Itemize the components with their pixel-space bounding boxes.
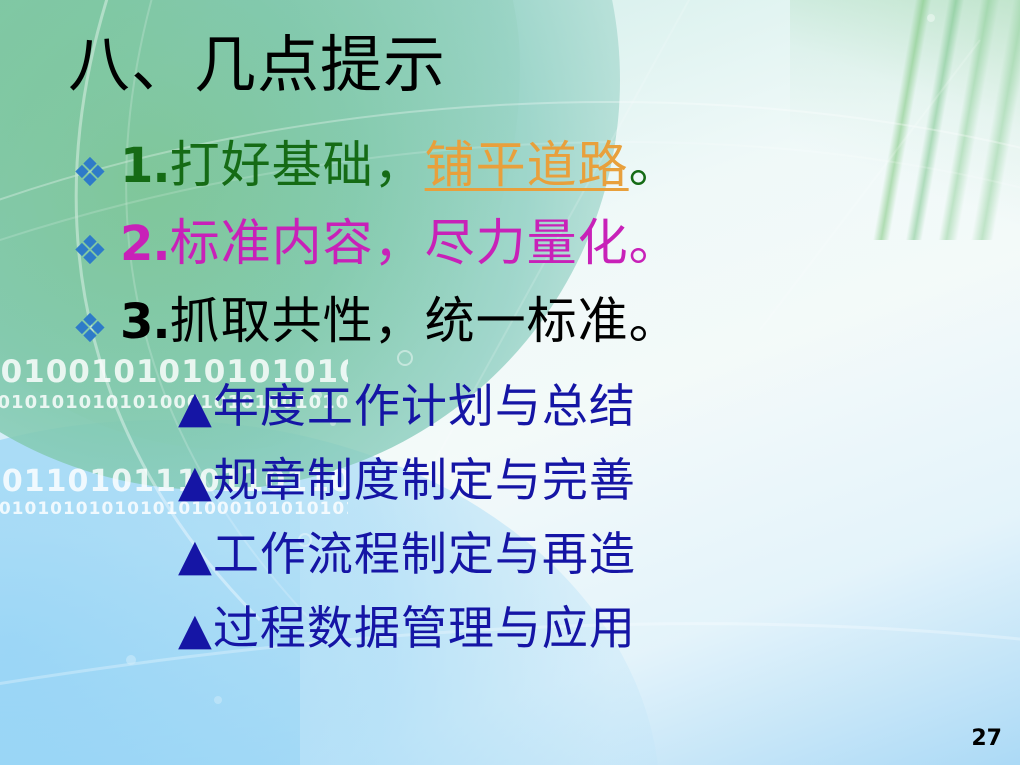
bullet-3-segment-1: 抓取共性，统一标准。 [170, 292, 680, 350]
slide-content: 八、几点提示 ❖1.打好基础，铺平道路。 ❖2.标准内容，尽力量化。 ❖3.抓取… [0, 0, 1020, 765]
triangle-bullet-icon: ▲ [178, 530, 213, 581]
sub-item-4: ▲过程数据管理与应用 [178, 605, 636, 652]
bullet-1-segment-2-highlight: 铺平道路 [425, 136, 629, 194]
triangle-bullet-icon: ▲ [178, 604, 213, 655]
slide-title: 八、几点提示 [68, 34, 446, 96]
presentation-slide: 1010010101010101001 10101010101010001010… [0, 0, 1020, 765]
sub-item-2-label: 规章制度制定与完善 [213, 453, 636, 507]
sub-item-4-label: 过程数据管理与应用 [213, 601, 636, 655]
sub-item-2: ▲规章制度制定与完善 [178, 457, 636, 504]
page-number: 27 [971, 726, 1002, 751]
bullet-item-1: ❖1.打好基础，铺平道路。 [72, 140, 680, 193]
sub-item-3-label: 工作流程制定与再造 [213, 527, 636, 581]
diamond-bullet-icon: ❖ [72, 309, 120, 349]
bullet-item-2: ❖2.标准内容，尽力量化。 [72, 218, 680, 271]
bullet-1-segment-1: 打好基础， [170, 136, 425, 194]
bullet-item-3: ❖3.抓取共性，统一标准。 [72, 296, 680, 349]
bullet-number-1: 1. [120, 138, 170, 194]
bullet-number-2: 2. [120, 216, 170, 272]
sub-item-3: ▲工作流程制定与再造 [178, 531, 636, 578]
sub-item-1-label: 年度工作计划与总结 [213, 379, 636, 433]
triangle-bullet-icon: ▲ [178, 456, 213, 507]
diamond-bullet-icon: ❖ [72, 153, 120, 193]
bullet-number-3: 3. [120, 294, 170, 350]
diamond-bullet-icon: ❖ [72, 231, 120, 271]
bullet-2-segment-1: 标准内容，尽力量化。 [170, 214, 680, 272]
triangle-bullet-icon: ▲ [178, 382, 213, 433]
sub-item-1: ▲年度工作计划与总结 [178, 383, 636, 430]
bullet-1-segment-3: 。 [629, 136, 680, 194]
